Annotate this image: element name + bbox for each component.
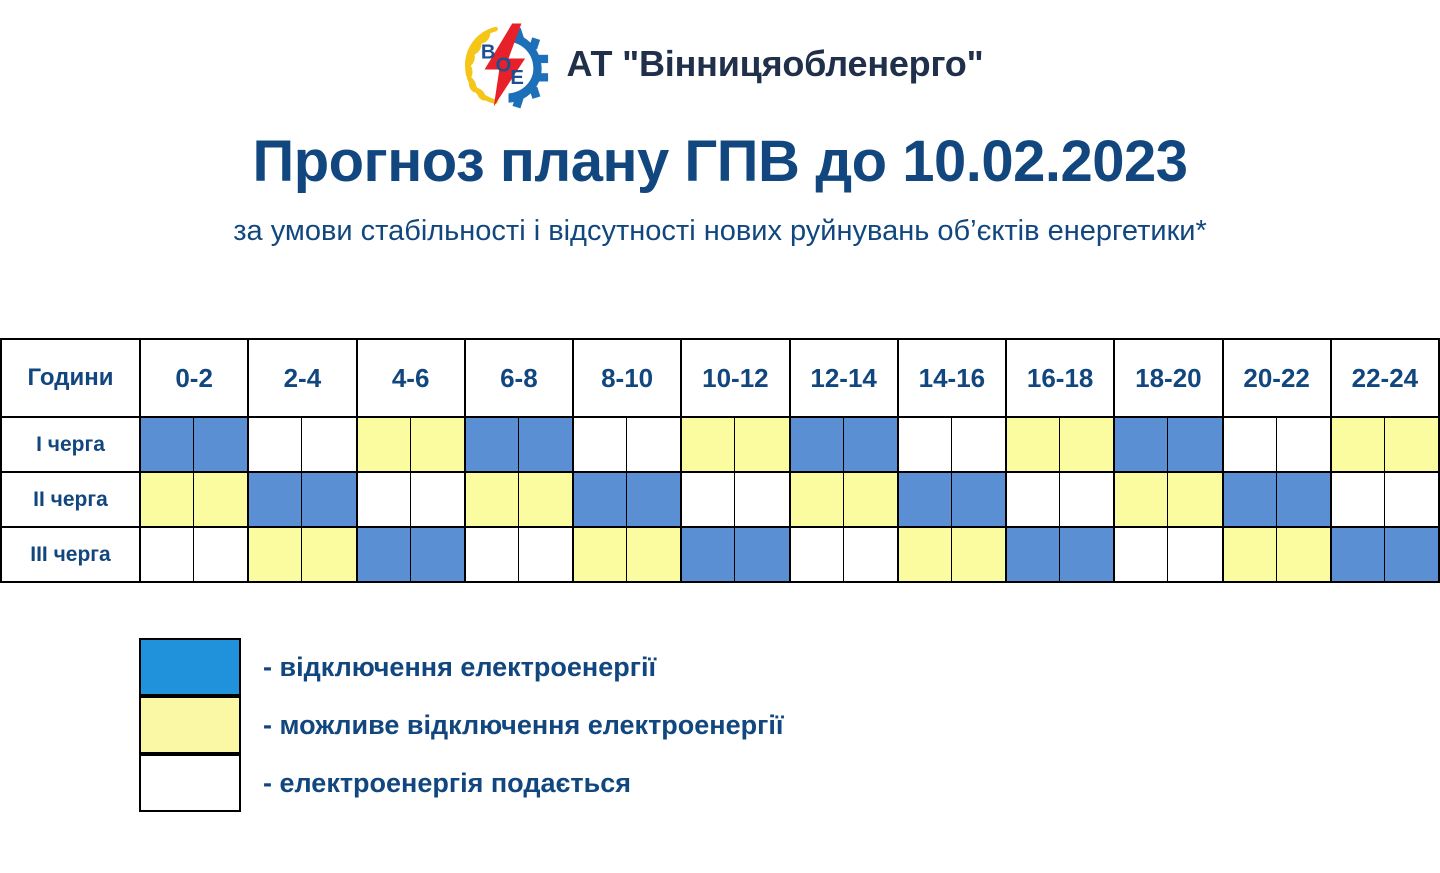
schedule-hour-cell-maybe (1060, 418, 1113, 471)
brand-header: B O E АТ "Вінницяобленерго" (0, 0, 1440, 110)
schedule-hour-cell-maybe (735, 418, 788, 471)
schedule-hour-cell-maybe (519, 473, 572, 526)
brand-title: АТ "Вінницяобленерго" (567, 43, 984, 85)
legend-label-possible-outage: - можливе відключення електроенергії (263, 710, 783, 741)
schedule-hour-cell-maybe (1168, 473, 1221, 526)
schedule-cell (573, 417, 681, 472)
schedule-cell (1223, 527, 1331, 582)
schedule-hour-cell-maybe (411, 418, 464, 471)
legend-item: - можливе відключення електроенергії (139, 696, 783, 754)
schedule-hour-cell-off (844, 418, 897, 471)
svg-text:E: E (510, 67, 524, 89)
schedule-hour-cell-maybe (466, 473, 519, 526)
schedule-hour-cell-off (466, 418, 519, 471)
schedule-cell (1114, 472, 1222, 527)
legend-label-outage: - відключення електроенергії (263, 652, 656, 683)
schedule-hour-cell-maybe (1385, 418, 1438, 471)
schedule-table-wrapper: Години 0-2 2-4 4-6 6-8 8-10 10-12 12-14 … (0, 338, 1440, 583)
schedule-cell (1006, 472, 1114, 527)
hour-column-header: 8-10 (573, 339, 681, 417)
schedule-hour-cell-on (1115, 528, 1168, 581)
schedule-hour-cell-off (682, 528, 735, 581)
schedule-hour-cell-off (1007, 528, 1060, 581)
schedule-cell (1223, 417, 1331, 472)
schedule-hour-cell-maybe (574, 528, 627, 581)
schedule-cell (790, 527, 898, 582)
schedule-cell (898, 417, 1006, 472)
schedule-cell (140, 527, 248, 582)
schedule-hour-cell-maybe (952, 528, 1005, 581)
schedule-hour-cell-on (1168, 528, 1221, 581)
schedule-hour-cell-maybe (791, 473, 844, 526)
schedule-hour-cell-on (1277, 418, 1330, 471)
schedule-hour-cell-on (466, 528, 519, 581)
schedule-hour-cell-off (1385, 528, 1438, 581)
schedule-hour-cell-on (411, 473, 464, 526)
schedule-hour-cell-on (952, 418, 1005, 471)
voe-wheat-gear-lightning-logo-icon: B O E (457, 18, 549, 110)
schedule-hour-cell-maybe (844, 473, 897, 526)
legend-item: - відключення електроенергії (139, 638, 783, 696)
schedule-hour-cell-off (1277, 473, 1330, 526)
schedule-cell (140, 417, 248, 472)
queue-row-label: II черга (1, 472, 140, 527)
schedule-hour-cell-on (141, 528, 194, 581)
outage-schedule-page: B O E АТ "Вінницяобленерго" Прогноз план… (0, 0, 1440, 873)
schedule-hour-cell-off (141, 418, 194, 471)
schedule-cell (465, 472, 573, 527)
schedule-cell (248, 472, 356, 527)
schedule-hour-cell-off (302, 473, 355, 526)
schedule-cell (573, 527, 681, 582)
schedule-cell (1331, 472, 1439, 527)
schedule-cell (681, 527, 789, 582)
schedule-cell (357, 527, 465, 582)
queue-row-label: III черга (1, 527, 140, 582)
schedule-hour-cell-on (519, 528, 572, 581)
page-title: Прогноз плану ГПВдо 10.02.2023 (0, 132, 1440, 193)
svg-text:O: O (495, 54, 511, 76)
schedule-cell (790, 417, 898, 472)
hour-column-header: 14-16 (898, 339, 1006, 417)
schedule-cell (573, 472, 681, 527)
schedule-hour-cell-maybe (1224, 528, 1277, 581)
schedule-hour-cell-maybe (627, 528, 680, 581)
schedule-cell (465, 417, 573, 472)
schedule-cell (357, 472, 465, 527)
page-title-date: до 10.02.2023 (815, 129, 1187, 194)
page-title-main: Прогноз плану ГПВ (253, 129, 800, 194)
schedule-hour-cell-maybe (249, 528, 302, 581)
legend-swatch-outage (139, 638, 241, 696)
hour-column-header: 12-14 (790, 339, 898, 417)
schedule-hour-cell-on (1007, 473, 1060, 526)
schedule-cell (1223, 472, 1331, 527)
schedule-cell (465, 527, 573, 582)
schedule-cell (898, 472, 1006, 527)
schedule-cell (898, 527, 1006, 582)
schedule-hour-cell-on (249, 418, 302, 471)
schedule-hour-cell-off (1168, 418, 1221, 471)
page-subtitle: за умови стабільності і відсутності нови… (0, 215, 1440, 248)
schedule-hour-cell-maybe (1332, 418, 1385, 471)
schedule-hour-cell-maybe (141, 473, 194, 526)
schedule-cell (1331, 527, 1439, 582)
legend-swatch-possible-outage (139, 696, 241, 754)
schedule-cell (1006, 527, 1114, 582)
legend-item: - електроенергія подається (139, 754, 783, 812)
schedule-cell (1331, 417, 1439, 472)
schedule-hour-cell-off (1060, 528, 1113, 581)
schedule-hour-cell-maybe (1277, 528, 1330, 581)
schedule-hour-cell-on (899, 418, 952, 471)
legend: - відключення електроенергії - можливе в… (139, 638, 783, 812)
table-row: II черга (1, 472, 1439, 527)
schedule-hour-cell-off (952, 473, 1005, 526)
hours-corner-header: Години (1, 339, 140, 417)
hour-column-header: 4-6 (357, 339, 465, 417)
table-row: III черга (1, 527, 1439, 582)
legend-label-power-on: - електроенергія подається (263, 768, 631, 799)
hour-column-header: 22-24 (1331, 339, 1439, 417)
schedule-hour-cell-off (249, 473, 302, 526)
hour-column-header: 18-20 (1114, 339, 1222, 417)
schedule-hour-cell-on (302, 418, 355, 471)
schedule-hour-cell-on (1332, 473, 1385, 526)
hour-column-header: 2-4 (248, 339, 356, 417)
schedule-hour-cell-off (358, 528, 411, 581)
schedule-cell (681, 417, 789, 472)
legend-swatch-power-on (139, 754, 241, 812)
schedule-hour-cell-off (1332, 528, 1385, 581)
schedule-cell (1114, 417, 1222, 472)
table-row: I черга (1, 417, 1439, 472)
svg-text:B: B (480, 41, 495, 63)
schedule-cell (1114, 527, 1222, 582)
schedule-hour-cell-off (574, 473, 627, 526)
schedule-hour-cell-off (735, 528, 788, 581)
schedule-hour-cell-maybe (194, 473, 247, 526)
hour-column-header: 10-12 (681, 339, 789, 417)
schedule-hour-cell-on (358, 473, 411, 526)
table-header-row: Години 0-2 2-4 4-6 6-8 8-10 10-12 12-14 … (1, 339, 1439, 417)
schedule-hour-cell-on (574, 418, 627, 471)
schedule-hour-cell-on (1224, 418, 1277, 471)
schedule-cell (681, 472, 789, 527)
schedule-cell (790, 472, 898, 527)
hour-column-header: 6-8 (465, 339, 573, 417)
schedule-cell (248, 527, 356, 582)
schedule-hour-cell-maybe (302, 528, 355, 581)
schedule-hour-cell-on (735, 473, 788, 526)
outage-schedule-table: Години 0-2 2-4 4-6 6-8 8-10 10-12 12-14 … (0, 338, 1440, 583)
schedule-hour-cell-off (411, 528, 464, 581)
hour-column-header: 0-2 (140, 339, 248, 417)
schedule-cell (248, 417, 356, 472)
schedule-hour-cell-off (899, 473, 952, 526)
schedule-hour-cell-off (791, 418, 844, 471)
queue-row-label: I черга (1, 417, 140, 472)
schedule-hour-cell-off (1224, 473, 1277, 526)
schedule-hour-cell-maybe (1115, 473, 1168, 526)
schedule-hour-cell-maybe (682, 418, 735, 471)
schedule-cell (140, 472, 248, 527)
schedule-cell (1006, 417, 1114, 472)
schedule-hour-cell-off (194, 418, 247, 471)
hour-column-header: 16-18 (1006, 339, 1114, 417)
schedule-hour-cell-on (1060, 473, 1113, 526)
schedule-table-body: I чергаII чергаIII черга (1, 417, 1439, 582)
schedule-hour-cell-on (1385, 473, 1438, 526)
schedule-hour-cell-on (627, 418, 680, 471)
schedule-hour-cell-maybe (899, 528, 952, 581)
schedule-hour-cell-on (194, 528, 247, 581)
schedule-hour-cell-maybe (358, 418, 411, 471)
schedule-hour-cell-off (519, 418, 572, 471)
schedule-hour-cell-off (627, 473, 680, 526)
schedule-hour-cell-on (791, 528, 844, 581)
hour-column-header: 20-22 (1223, 339, 1331, 417)
schedule-hour-cell-maybe (1007, 418, 1060, 471)
schedule-hour-cell-off (1115, 418, 1168, 471)
schedule-hour-cell-on (682, 473, 735, 526)
schedule-hour-cell-on (844, 528, 897, 581)
schedule-cell (357, 417, 465, 472)
